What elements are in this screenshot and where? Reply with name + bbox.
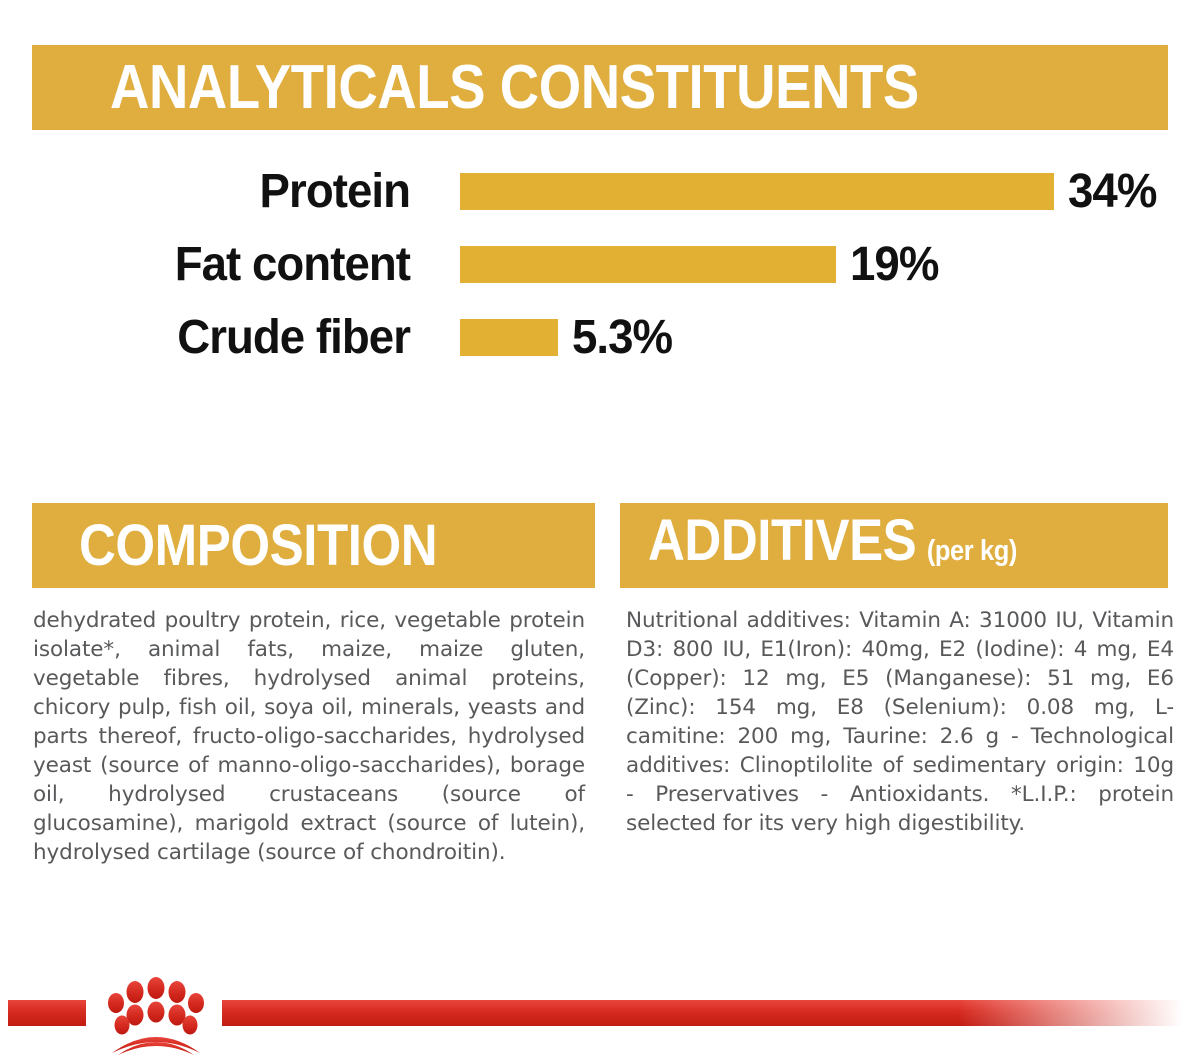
analyticals-constituents-header: ANALYTICALS CONSTITUENTS <box>32 45 1168 130</box>
analyticals-bar-chart: Protein 34% Fat content 19% Crude fiber … <box>0 160 1200 379</box>
additives-text: Nutritional additives: Vitamin A: 31000 … <box>626 606 1174 838</box>
chart-row-protein: Protein 34% <box>0 160 1200 233</box>
chart-label-crude-fiber: Crude fiber <box>21 310 411 365</box>
chart-bar-wrap-crude-fiber: 5.3% <box>460 319 677 356</box>
chart-label-fat-content: Fat content <box>21 237 411 292</box>
chart-bar-wrap-fat-content: 19% <box>460 246 943 283</box>
chart-bar-wrap-protein: 34% <box>460 173 1161 210</box>
chart-value-protein: 34% <box>1068 164 1156 219</box>
chart-label-protein: Protein <box>21 164 411 219</box>
additives-header: ADDITIVES (per kg) <box>620 503 1168 588</box>
footer-bar-left <box>8 1000 86 1026</box>
chart-value-fat-content: 19% <box>850 237 938 292</box>
footer-bar-right <box>222 1000 1192 1026</box>
chart-bar-protein <box>460 173 1054 210</box>
analyticals-constituents-title: ANALYTICALS CONSTITUENTS <box>110 57 919 119</box>
composition-text: dehydrated poultry protein, rice, vegeta… <box>33 606 585 867</box>
chart-bar-crude-fiber <box>460 319 558 356</box>
additives-title: ADDITIVES (per kg) <box>648 512 1017 580</box>
chart-bar-fat-content <box>460 246 836 283</box>
royal-canin-crown-icon <box>96 973 216 1055</box>
additives-title-suffix: (per kg) <box>927 522 1017 580</box>
chart-value-crude-fiber: 5.3% <box>572 310 672 365</box>
brand-footer-strip <box>0 955 1200 1059</box>
composition-title: COMPOSITION <box>79 517 437 575</box>
additives-title-main: ADDITIVES <box>648 512 916 570</box>
chart-row-crude-fiber: Crude fiber 5.3% <box>0 306 1200 379</box>
composition-header: COMPOSITION <box>32 503 595 588</box>
chart-row-fat-content: Fat content 19% <box>0 233 1200 306</box>
